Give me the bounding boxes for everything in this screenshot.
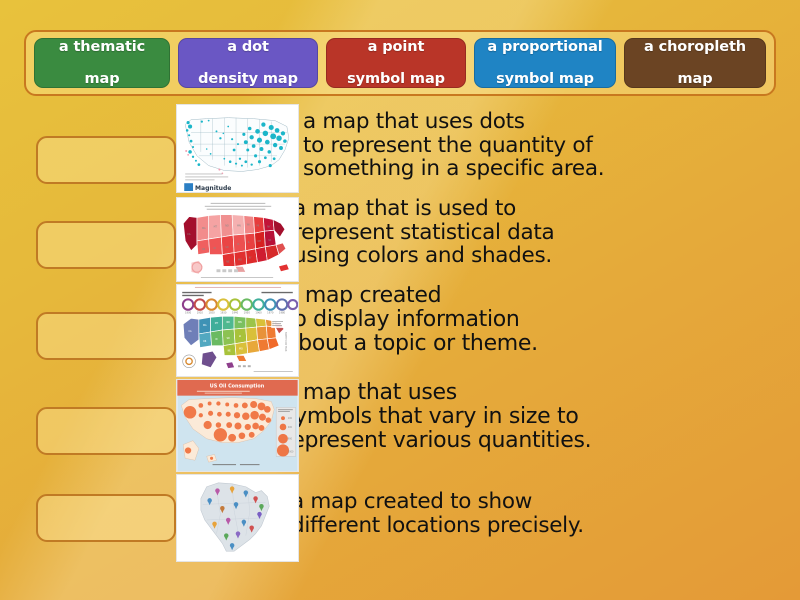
svg-text:ND: ND [225,224,229,227]
svg-text:SD: SD [227,337,230,340]
svg-text:1900: 1900 [185,311,192,314]
description-row-2-line1: a map that is used to [293,197,800,221]
svg-text:WA: WA [203,324,207,327]
description-row-1-line3: something in a specific area. [303,157,800,181]
svg-text:1960: 1960 [255,311,262,314]
match-row: Magnitude a map that uses dots to repres… [0,104,800,197]
tile-proportional-symbol-map[interactable]: a proportional symbol map [474,38,616,88]
dropzone-row-3[interactable] [36,312,176,360]
match-row: US Oil Consumption [0,379,800,474]
svg-text:MO: MO [238,258,242,261]
description-row-5-line2: different locations precisely. [291,514,800,538]
description-row-3: a map created to display information abo… [285,284,800,357]
svg-text:900: 900 [288,438,293,441]
svg-text:1930: 1930 [220,311,227,314]
description-row-5: a map created to show different location… [291,474,800,537]
svg-text:SD: SD [225,246,228,249]
svg-text:1910: 1910 [197,311,204,314]
thumbnail-caption-row-4: US Oil Consumption [210,383,265,389]
svg-text:400: 400 [288,426,293,429]
tile-proportional-symbol-map-line1: a proportional [482,39,608,55]
svg-text:CA: CA [188,330,192,333]
svg-text:2000: 2000 [288,450,294,453]
svg-text:1980: 1980 [279,311,286,314]
svg-text:1940: 1940 [232,311,239,314]
thumbnail-caption-row-1: Magnitude [195,185,231,192]
description-row-4-line1: a map that uses [283,381,800,405]
description-row-3-line2: to display information [285,308,800,332]
svg-text:WA: WA [202,227,206,230]
svg-text:CA: CA [187,233,191,236]
thumbnail-us-choropleth-red-map: WAMTND MNWIMI ORIDSD IAILOH NEMOKY CANYV… [176,197,299,282]
dropzone-row-5[interactable] [36,494,176,542]
dropzone-row-2[interactable] [36,221,176,269]
description-row-1-line1: a map that uses dots [303,110,800,134]
tile-point-symbol-map-line1: a point [334,39,458,55]
dropzone-row-4[interactable] [36,407,176,455]
svg-text:1970: 1970 [267,311,274,314]
svg-text:STATEHOOD YEAR: STATEHOOD YEAR [284,332,287,352]
svg-text:MI: MI [257,224,260,227]
svg-text:ND: ND [226,321,230,324]
thumbnail-us-proportional-symbol-map: US Oil Consumption [176,379,299,472]
match-row: 190019101920 193019401950 196019701980 [0,284,800,379]
tile-choropleth-map-line2: map [632,71,758,87]
svg-text:MN: MN [237,224,241,227]
tile-choropleth-map-line1: a choropleth [632,39,758,55]
tile-dot-density-map-line1: a dot [186,39,310,55]
match-row: a map created to show different location… [0,474,800,566]
description-row-2-line2: represent statistical data [293,221,800,245]
description-row-1: a map that uses dots to represent the qu… [303,104,800,181]
svg-text:VA: VA [268,239,271,242]
svg-text:MO: MO [239,348,243,351]
tile-point-symbol-map-line2: symbol map [334,71,458,87]
description-row-4: a map that uses symbols that vary in siz… [283,379,800,454]
tile-thematic-map-line2: map [42,71,162,87]
dropzone-row-1[interactable] [36,136,176,184]
description-row-1-line2: to represent the quantity of [303,134,800,158]
svg-text:OR: OR [203,340,207,343]
description-row-4-line3: represent various quantities. [283,429,800,453]
svg-text:ID: ID [214,247,217,250]
match-rows: Magnitude a map that uses dots to repres… [0,104,800,566]
svg-text:IA: IA [237,243,240,246]
thumbnail-brazil-point-symbol-map [176,474,299,562]
svg-text:OH: OH [258,240,262,243]
svg-text:1950: 1950 [244,311,251,314]
description-row-4-line2: symbols that vary in size to [283,405,800,429]
description-row-3-line1: a map created [285,284,800,308]
tile-point-symbol-map[interactable]: a point symbol map [326,38,466,88]
svg-text:100: 100 [288,417,293,420]
description-row-5-line1: a map created to show [291,490,800,514]
tile-thematic-map-line1: a thematic [42,39,162,55]
svg-text:ID: ID [215,338,218,341]
tile-dot-density-map-line2: density map [186,71,310,87]
thumbnail-us-thematic-multicolor-map: 190019101920 193019401950 196019701980 [176,284,299,377]
tile-choropleth-map[interactable]: a choropleth map [624,38,766,88]
thumbnail-us-dot-density-map: Magnitude [176,104,299,193]
tile-thematic-map[interactable]: a thematic map [34,38,170,88]
svg-text:OR: OR [202,248,206,251]
svg-text:MN: MN [238,321,242,324]
description-row-2-line3: using colors and shades. [293,244,800,268]
tile-dot-density-map[interactable]: a dot density map [178,38,318,88]
svg-text:NE: NE [226,260,230,263]
svg-text:MT: MT [214,225,218,228]
description-row-3-line3: about a topic or theme. [285,332,800,356]
svg-text:WI: WI [247,223,250,226]
answer-tile-tray: a thematic map a dot density map a point… [24,30,776,96]
match-row: WAMTND MNWIMI ORIDSD IAILOH NEMOKY CANYV… [0,197,800,284]
tile-proportional-symbol-map-line2: symbol map [482,71,608,87]
svg-text:1920: 1920 [208,311,215,314]
description-row-2: a map that is used to represent statisti… [293,197,800,268]
